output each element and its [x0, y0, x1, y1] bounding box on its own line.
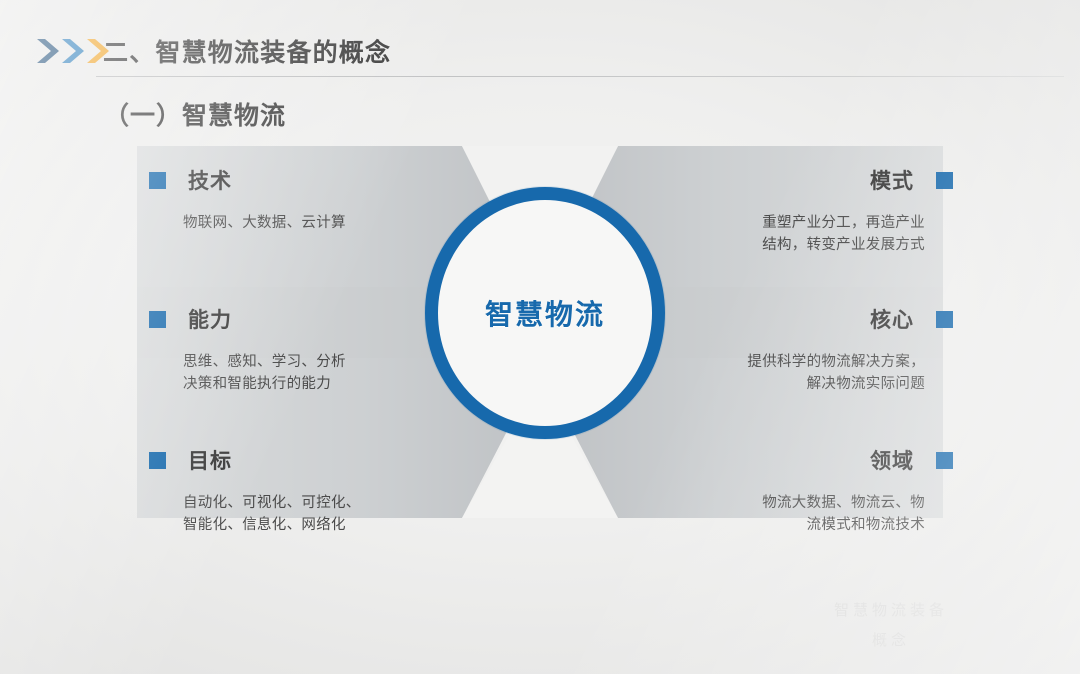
square-bullet-icon — [149, 452, 166, 469]
diagram-item-capability[interactable]: 能力 思维、感知、学习、分析 决策和智能执行的能力 — [137, 289, 447, 414]
slide-canvas: 二、智慧物流装备的概念 （一）智慧物流 — [0, 0, 1080, 674]
diagram-item-mode[interactable]: 模式 重塑产业分工，再造产业 结构，转变产业发展方式 — [655, 150, 965, 275]
diagram-item-goal[interactable]: 目标 自动化、可视化、可控化、 智能化、信息化、网络化 — [137, 430, 447, 555]
page-title: 二、智慧物流装备的概念 — [103, 33, 391, 69]
item-title: 能力 — [188, 304, 232, 334]
square-bullet-icon — [936, 452, 953, 469]
item-description: 思维、感知、学习、分析 决策和智能执行的能力 — [183, 351, 346, 395]
center-hub: 智慧物流 — [425, 187, 665, 439]
item-description: 物流大数据、物流云、物 流模式和物流技术 — [762, 492, 925, 536]
square-bullet-icon — [149, 172, 166, 189]
diagram-item-core[interactable]: 核心 提供科学的物流解决方案， 解决物流实际问题 — [655, 289, 965, 414]
section-subtitle: （一）智慧物流 — [104, 96, 286, 132]
item-title: 技术 — [188, 165, 232, 195]
header-divider — [96, 76, 1064, 77]
item-description: 自动化、可视化、可控化、 智能化、信息化、网络化 — [183, 492, 361, 536]
item-header: 模式 — [870, 154, 953, 206]
item-header: 核心 — [870, 293, 953, 345]
item-title: 领域 — [870, 445, 914, 475]
item-header: 技术 — [149, 154, 232, 206]
item-title: 模式 — [870, 165, 914, 195]
item-title: 核心 — [870, 304, 914, 334]
square-bullet-icon — [936, 172, 953, 189]
item-header: 目标 — [149, 434, 232, 486]
center-label: 智慧物流 — [425, 293, 665, 333]
square-bullet-icon — [936, 311, 953, 328]
chevron-right-blue-icon — [62, 39, 84, 63]
watermark: 智慧物流装备 概念 — [726, 596, 1056, 656]
item-title: 目标 — [188, 445, 232, 475]
item-header: 领域 — [870, 434, 953, 486]
square-bullet-icon — [149, 311, 166, 328]
item-description: 物联网、大数据、云计算 — [183, 212, 346, 234]
radial-diagram: 智慧物流 技术 物联网、大数据、云计算 能力 思维、感知、学习、分析 决策和智能… — [0, 132, 1080, 572]
chevron-right-dark-blue-icon — [37, 39, 59, 63]
diagram-item-field[interactable]: 领域 物流大数据、物流云、物 流模式和物流技术 — [655, 430, 965, 555]
slide-header: 二、智慧物流装备的概念 — [0, 0, 1080, 86]
item-description: 提供科学的物流解决方案， 解决物流实际问题 — [747, 351, 925, 395]
item-description: 重塑产业分工，再造产业 结构，转变产业发展方式 — [762, 212, 925, 256]
item-header: 能力 — [149, 293, 232, 345]
diagram-item-technology[interactable]: 技术 物联网、大数据、云计算 — [137, 150, 447, 275]
